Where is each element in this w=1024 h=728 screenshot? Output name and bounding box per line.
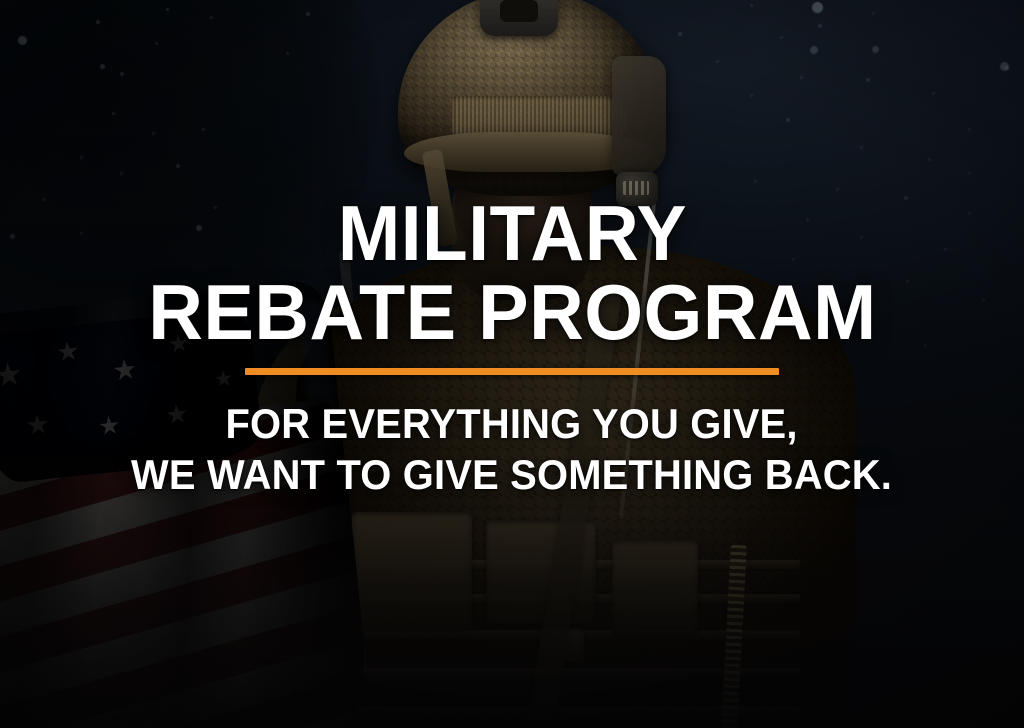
headline-line-2: REBATE PROGRAM	[148, 275, 876, 350]
subheadline: FOR EVERYTHING YOU GIVE, WE WANT TO GIVE…	[111, 401, 912, 498]
banner-content: MILITARY REBATE PROGRAM FOR EVERYTHING Y…	[0, 0, 1024, 728]
subheadline-line-1: FOR EVERYTHING YOU GIVE,	[131, 401, 892, 446]
page-title: MILITARY REBATE PROGRAM	[137, 0, 888, 350]
subheadline-line-2: WE WANT TO GIVE SOMETHING BACK.	[131, 452, 892, 497]
orange-divider	[245, 368, 779, 375]
headline-line-1: MILITARY	[152, 196, 873, 271]
military-rebate-banner: ★ ★ ★ ★ ★ ★ ★ ★ MILITARY REBATE PROGRAM …	[0, 0, 1024, 728]
